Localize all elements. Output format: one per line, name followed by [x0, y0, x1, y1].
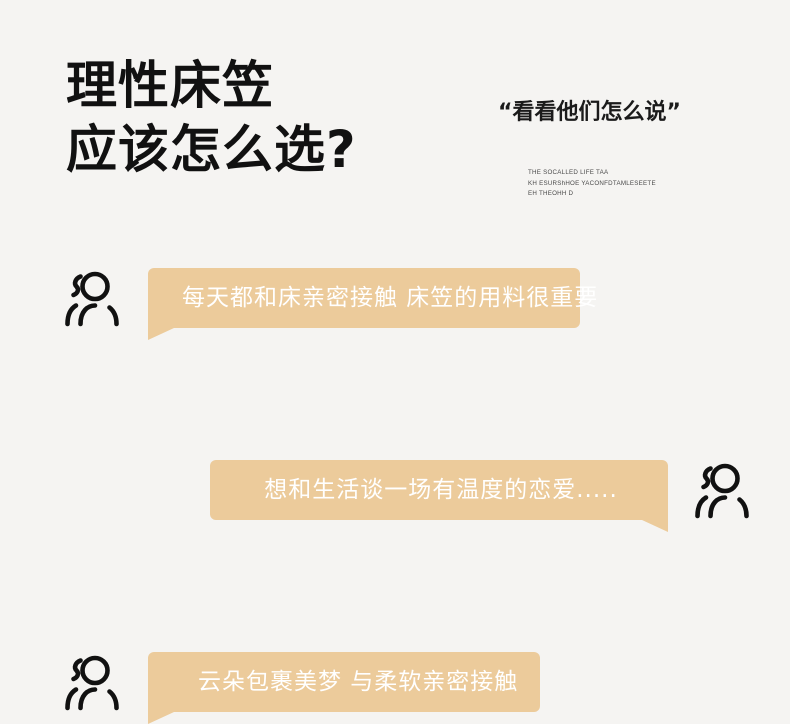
testimonial-bubble[interactable]: 云朵包裹美梦 与柔软亲密接触: [148, 652, 540, 712]
bubble-tail: [148, 328, 174, 340]
testimonial-row: 每天都和床亲密接触 床笠的用料很重要: [0, 268, 790, 364]
latin-line-2: KH ESURShHOE YACONFDTAMLESEETE: [528, 179, 728, 190]
testimonial-text: 每天都和床亲密接触 床笠的用料很重要: [182, 284, 598, 312]
headline-line-1: 理性床笠: [66, 57, 466, 117]
group-people-icon: [56, 268, 128, 328]
testimonial-row: 云朵包裹美梦 与柔软亲密接触: [0, 460, 790, 556]
poster-canvas: 理性床笠 应该怎么选? “看看他们怎么说” THE SOCALLED LIFE …: [0, 0, 790, 568]
decorative-latin-text: THE SOCALLED LIFE TAA KH ESURShHOE YACON…: [528, 168, 728, 200]
latin-line-3: EH THEOHH D: [528, 189, 728, 200]
quote-block: “看看他们怎么说” THE SOCALLED LIFE TAA KH ESURS…: [498, 98, 728, 200]
headline-line-2: 应该怎么选?: [66, 121, 466, 181]
testimonial-bubble[interactable]: 每天都和床亲密接触 床笠的用料很重要: [148, 268, 580, 328]
quote-heading: “看看他们怎么说”: [498, 98, 728, 128]
latin-line-1: THE SOCALLED LIFE TAA: [528, 168, 728, 179]
page-title: 理性床笠 应该怎么选?: [66, 57, 466, 181]
testimonial-text: 云朵包裹美梦 与柔软亲密接触: [198, 668, 518, 696]
testimonial-row: 想和生活谈一场有温度的恋爱.....: [0, 364, 790, 460]
group-people-icon: [56, 652, 128, 712]
testimonial-list: 每天都和床亲密接触 床笠的用料很重要 想和生活谈一场有温度的恋爱.....: [0, 268, 790, 556]
bubble-tail: [148, 712, 174, 724]
